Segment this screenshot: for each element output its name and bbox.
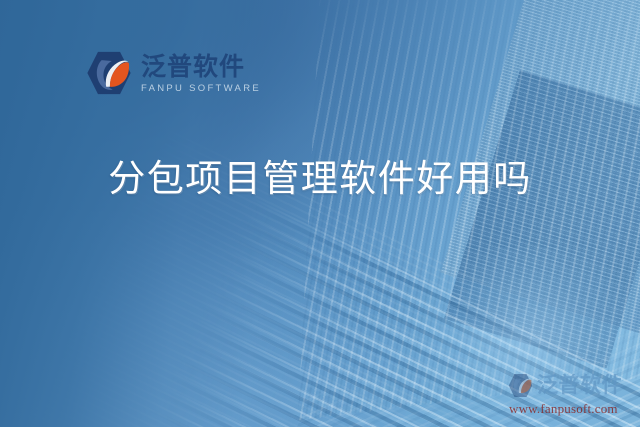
watermark-logo-row: 泛普软件: [508, 372, 638, 398]
brand-logo-text: 泛普软件 FANPU SOFTWARE: [141, 51, 261, 94]
watermark-brand-name-cn: 泛普软件: [537, 375, 623, 396]
watermark-url: www.fanpusoft.com: [509, 402, 638, 415]
brand-name-cn: 泛普软件: [141, 53, 261, 81]
watermark-fanpu-hexagon-sail-logo-icon: [508, 373, 533, 398]
brand-logo-lockup: 泛普软件 FANPU SOFTWARE: [86, 50, 261, 96]
promo-banner: 泛普软件 FANPU SOFTWARE 分包项目管理软件好用吗 泛普软件 www…: [0, 0, 640, 427]
banner-headline: 分包项目管理软件好用吗: [0, 156, 640, 202]
corner-watermark: 泛普软件 www.fanpusoft.com: [508, 372, 638, 420]
fanpu-hexagon-sail-logo-icon: [86, 50, 132, 96]
brand-name-en: FANPU SOFTWARE: [141, 84, 261, 94]
